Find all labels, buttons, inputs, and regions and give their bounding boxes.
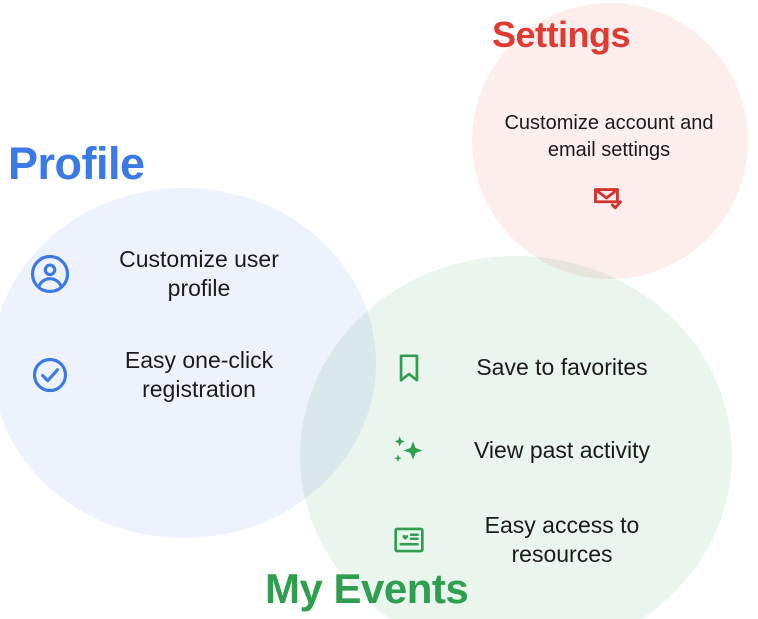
settings-description: Customize account and email settings: [478, 110, 740, 164]
events-feature-item: Easy access to resources: [382, 511, 682, 570]
sparkles-icon: [382, 428, 436, 474]
events-feature-label: Easy access to resources: [436, 511, 682, 570]
check-circle-icon: [22, 351, 78, 399]
profile-feature-list: Customize user profile Easy one-click re…: [22, 245, 312, 447]
events-feature-list: Save to favorites View past activity: [382, 345, 682, 607]
bookmark-icon: [382, 345, 436, 391]
events-feature-label: Save to favorites: [436, 353, 682, 382]
profile-feature-label: Easy one-click registration: [78, 346, 312, 405]
profile-heading: Profile: [8, 141, 145, 186]
venn-feature-diagram: Profile Settings My Events Customize use…: [0, 0, 758, 619]
settings-icon-wrap: [478, 180, 740, 221]
profile-feature-label: Customize user profile: [78, 245, 312, 304]
profile-feature-item: Customize user profile: [22, 245, 312, 304]
events-feature-label: View past activity: [436, 436, 682, 465]
settings-content: Customize account and email settings: [478, 110, 740, 221]
events-feature-item: Save to favorites: [382, 345, 682, 391]
profile-feature-item: Easy one-click registration: [22, 346, 312, 405]
settings-heading: Settings: [492, 17, 630, 53]
contact-card-icon: [382, 517, 436, 563]
events-feature-item: View past activity: [382, 428, 682, 474]
mail-check-icon: [591, 180, 627, 221]
user-circle-icon: [22, 250, 78, 298]
